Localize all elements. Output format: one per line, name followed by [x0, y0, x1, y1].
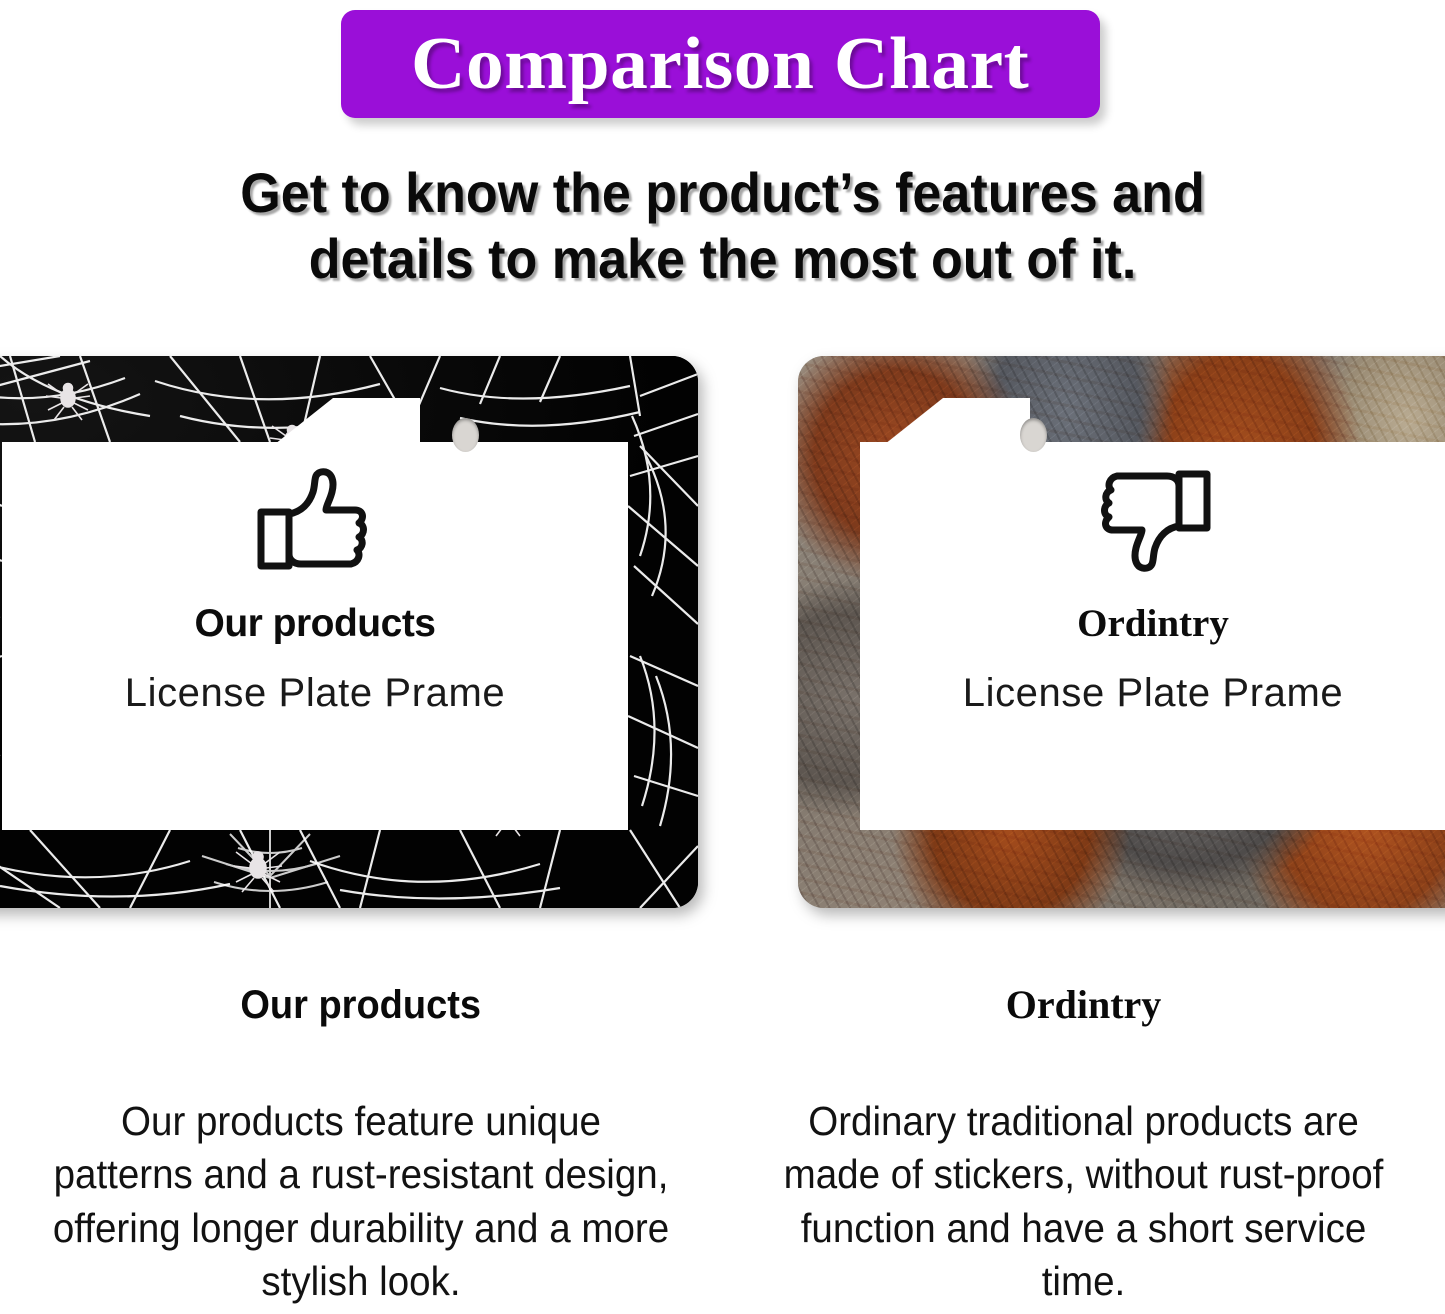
- comparison-body-ours: Our products feature unique patterns and…: [22, 1095, 701, 1308]
- mounting-hole-right: [1020, 418, 1047, 452]
- subtitle-line-1: Get to know the product’s features and: [51, 160, 1395, 226]
- ordinary-product-frame: Ordintry License Plate Prame: [798, 356, 1445, 908]
- subtitle-line-2: details to make the most out of it.: [51, 226, 1395, 292]
- our-product-card-content: Our products License Plate Prame: [2, 466, 628, 713]
- ordinary-product-card-content: Ordintry License Plate Prame: [860, 466, 1445, 713]
- comparison-heading-ordinary: Ordintry: [1006, 982, 1162, 1027]
- comparison-text-row: Our products Our products feature unique…: [0, 985, 1445, 1314]
- our-product-label: Our products: [194, 604, 435, 643]
- comparison-body-ordinary: Ordinary traditional products are made o…: [744, 1095, 1424, 1308]
- ordinary-product-label: Ordintry: [1077, 604, 1229, 643]
- our-product-sublabel: License Plate Prame: [125, 673, 505, 713]
- comparison-heading-ours: Our products: [241, 985, 482, 1025]
- mounting-hole-left: [452, 418, 479, 452]
- ordinary-product-sublabel: License Plate Prame: [963, 673, 1343, 713]
- comparison-column-ours: Our products Our products feature unique…: [0, 985, 722, 1308]
- comparison-chart-page: Comparison Chart Get to know the product…: [0, 0, 1445, 1314]
- thumbs-down-icon: [1093, 466, 1213, 574]
- our-product-frame: Our products License Plate Prame: [0, 356, 698, 908]
- comparison-column-ordinary: Ordintry Ordinary traditional products a…: [722, 985, 1445, 1308]
- title-banner: Comparison Chart: [341, 10, 1100, 118]
- thumbs-up-icon: [255, 466, 375, 574]
- subtitle: Get to know the product’s features and d…: [51, 160, 1395, 292]
- product-comparison-row: Our products License Plate Prame Ordi: [0, 356, 1445, 918]
- page-title: Comparison Chart: [411, 27, 1029, 101]
